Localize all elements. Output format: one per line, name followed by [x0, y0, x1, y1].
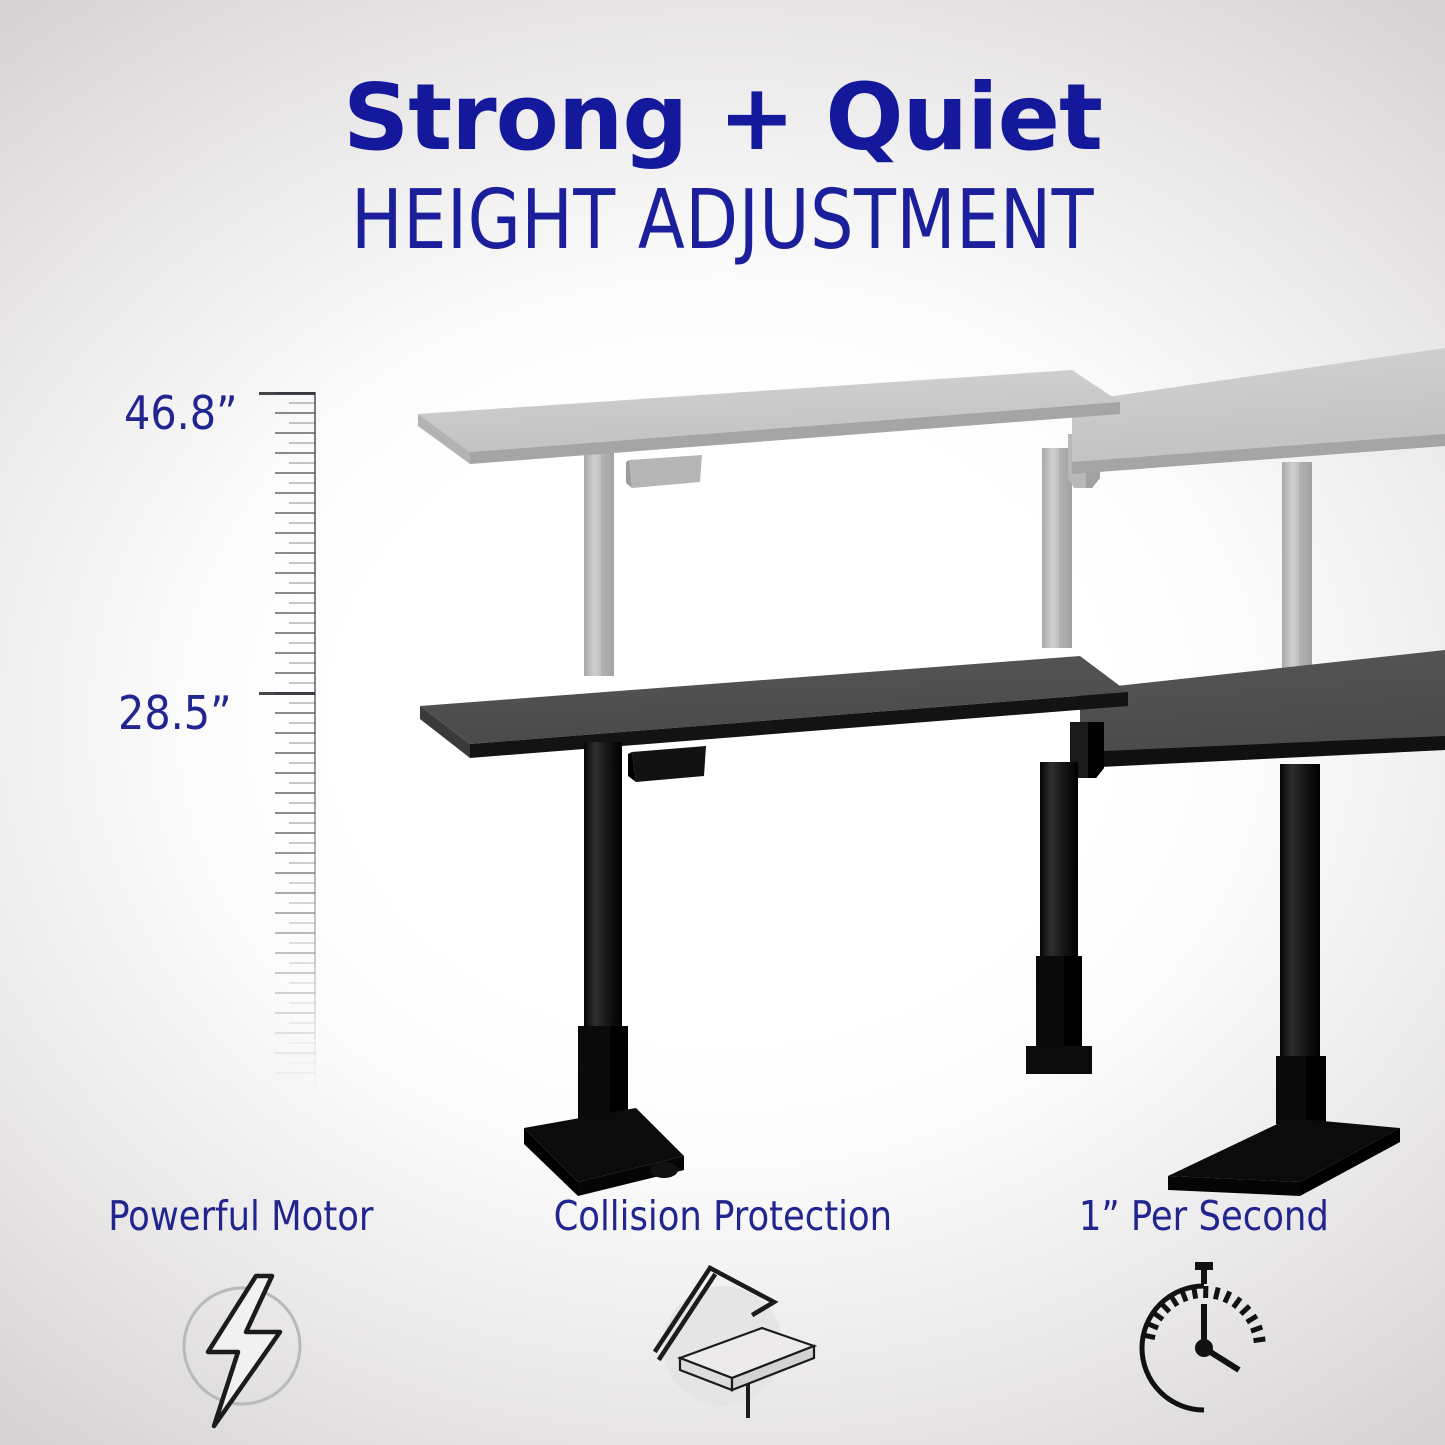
- clock-tick: [1153, 1313, 1163, 1320]
- ruler-tick: [275, 912, 315, 914]
- ruler-tick: [289, 522, 315, 524]
- lowered-desk-controller: [628, 746, 706, 782]
- clock-tick: [1182, 1290, 1186, 1301]
- ruler-tick: [275, 1012, 315, 1014]
- feature-label-collision-protection: Collision Protection: [491, 1192, 953, 1240]
- raised-desk-controller: [626, 455, 702, 488]
- ruler-tick: [275, 532, 315, 534]
- clock-tick: [1247, 1316, 1257, 1322]
- ruler-tick: [275, 792, 315, 794]
- ruler-tick: [289, 882, 315, 884]
- ruler-tick: [275, 672, 315, 674]
- feature-collision-protection: Collision Protection: [482, 1192, 964, 1444]
- ruler-tick: [289, 842, 315, 844]
- ruler-tick: [289, 802, 315, 804]
- ruler-tick: [275, 1032, 315, 1034]
- desk-collision-icon: [628, 1254, 818, 1444]
- raised-desk-return-top: [1072, 348, 1445, 474]
- ruler-tick: [275, 1092, 315, 1094]
- raised-desk-left-leg: [584, 448, 618, 676]
- height-ruler: [258, 392, 316, 1092]
- raised-desk-main-top: [418, 370, 1120, 464]
- ruler-tick: [289, 1082, 315, 1084]
- ruler-tick: [289, 502, 315, 504]
- lowered-desk-right-leg: [1168, 764, 1400, 1196]
- ruler-tick: [289, 602, 315, 604]
- ruler-tick: [289, 822, 315, 824]
- feature-label-powerful-motor: Powerful Motor: [10, 1192, 472, 1240]
- clock-tick: [1241, 1306, 1250, 1314]
- min-height-label: 28.5”: [118, 686, 232, 740]
- ruler-tick: [289, 942, 315, 944]
- ruler-tick: [289, 642, 315, 644]
- ruler-tick: [289, 542, 315, 544]
- feature-speed: 1” Per Second: [963, 1192, 1445, 1444]
- ruler-tick: [275, 572, 315, 574]
- headline-block: Strong + Quiet HEIGHT ADJUSTMENT: [0, 72, 1445, 262]
- ruler-tick: [275, 1052, 315, 1054]
- max-height-label: 46.8”: [124, 386, 238, 440]
- feature-powerful-motor: Powerful Motor: [0, 1192, 482, 1444]
- ruler-marker-max: [259, 392, 315, 395]
- ruler-tick: [289, 782, 315, 784]
- ruler-tick: [275, 892, 315, 894]
- ruler-tick: [289, 402, 315, 404]
- ruler-tick: [275, 812, 315, 814]
- ruler-tick: [275, 952, 315, 954]
- ruler-tick: [275, 832, 315, 834]
- ruler-tick: [289, 422, 315, 424]
- ruler-tick: [275, 872, 315, 874]
- clock-tick: [1251, 1327, 1262, 1331]
- ruler-tick: [289, 902, 315, 904]
- ruler-tick: [289, 982, 315, 984]
- ruler-tick: [275, 632, 315, 634]
- raised-desk-group: [418, 348, 1445, 676]
- ruler-tick: [275, 472, 315, 474]
- ruler-tick: [289, 702, 315, 704]
- ruler-tick: [275, 512, 315, 514]
- lowered-desk-corner-leg: [1026, 762, 1092, 1074]
- clock-tick: [1147, 1323, 1158, 1328]
- feature-row: Powerful Motor Collision Protection: [0, 1192, 1445, 1444]
- ruler-tick: [289, 742, 315, 744]
- ruler-tick: [289, 582, 315, 584]
- ruler-tick: [275, 452, 315, 454]
- raised-desk-right-leg: [1282, 462, 1312, 672]
- clock-tick: [1144, 1335, 1156, 1338]
- feature-label-speed: 1” Per Second: [973, 1192, 1435, 1240]
- ruler-tick: [275, 412, 315, 414]
- ruler-tick: [275, 612, 315, 614]
- ruler-tick: [289, 1022, 315, 1024]
- ruler-tick: [275, 492, 315, 494]
- clock-tick: [1161, 1303, 1169, 1312]
- ruler-tick: [275, 752, 315, 754]
- ruler-tick: [275, 592, 315, 594]
- clock-tick: [1254, 1339, 1266, 1341]
- ruler-tick: [275, 552, 315, 554]
- ruler-tick: [275, 432, 315, 434]
- lowered-desk-group: [420, 650, 1445, 1196]
- lowered-desk-left-leg: [524, 742, 684, 1196]
- headline-secondary: HEIGHT ADJUSTMENT: [51, 180, 1395, 262]
- headline-primary: Strong + Quiet: [0, 72, 1445, 164]
- ruler-tick: [275, 852, 315, 854]
- clock-icon: [1109, 1254, 1299, 1444]
- ruler-tick: [289, 562, 315, 564]
- infographic-canvas: Strong + Quiet HEIGHT ADJUSTMENT 46.8” 2…: [0, 0, 1445, 1445]
- clock-tick: [1216, 1288, 1219, 1300]
- ruler-tick: [289, 682, 315, 684]
- ruler-tick: [275, 932, 315, 934]
- ruler-tick: [289, 462, 315, 464]
- clock-tick: [1171, 1296, 1177, 1306]
- lowered-desk-return-top: [1080, 650, 1445, 768]
- ruler-tick: [275, 652, 315, 654]
- ruler-tick: [289, 1062, 315, 1064]
- lowered-desk-main-top: [420, 656, 1128, 758]
- ruler-tick: [275, 772, 315, 774]
- ruler-tick: [289, 722, 315, 724]
- ruler-tick: [275, 712, 315, 714]
- ruler-tick: [289, 1042, 315, 1044]
- ruler-marker-min: [259, 692, 315, 695]
- clock-tick: [1225, 1292, 1230, 1303]
- lowered-desk-corner-bracket: [1070, 722, 1104, 778]
- raised-desk-corner-leg: [1042, 434, 1100, 648]
- ruler-tick: [275, 732, 315, 734]
- ruler-tick: [289, 762, 315, 764]
- clock-tick: [1194, 1287, 1196, 1299]
- clock-tick: [1234, 1298, 1241, 1308]
- lightning-bolt-icon: [146, 1254, 336, 1444]
- ruler-tick: [275, 972, 315, 974]
- ruler-tick: [289, 442, 315, 444]
- ruler-tick: [289, 662, 315, 664]
- ruler-tick: [289, 922, 315, 924]
- ruler-tick: [289, 482, 315, 484]
- ruler-tick: [289, 962, 315, 964]
- ruler-tick: [289, 1002, 315, 1004]
- ruler-tick: [275, 992, 315, 994]
- ruler-tick: [289, 862, 315, 864]
- ruler-tick: [275, 1072, 315, 1074]
- ruler-tick: [289, 622, 315, 624]
